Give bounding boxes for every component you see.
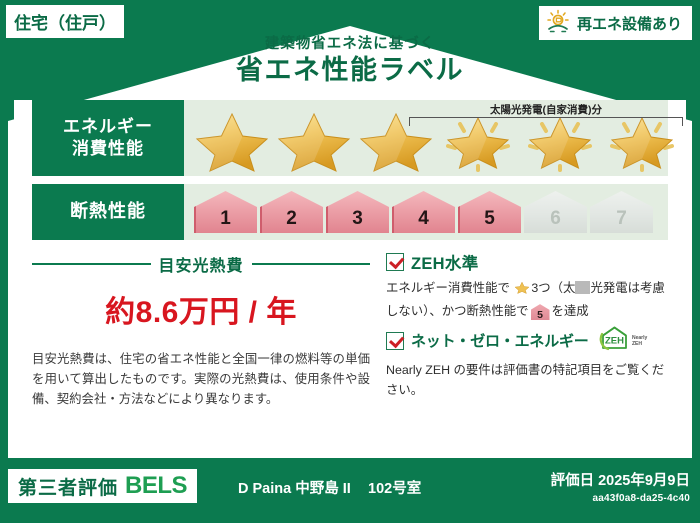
- label-lower-section: 目安光熱費 約8.6万円 / 年 目安光熱費は、住宅の省エネ性能と全国一律の燃料…: [32, 250, 668, 446]
- utility-cost-heading-text: 目安光熱費: [159, 252, 244, 276]
- heading-rule-right: [252, 263, 371, 265]
- net-zero-energy-head: ネット・ゼロ・エネルギー ZEH Nearly ZEH: [386, 325, 668, 356]
- insulation-level-6: 6: [524, 191, 587, 233]
- utility-cost-heading: 目安光熱費: [32, 252, 370, 276]
- zeh-desc-part2: 3つ（太: [531, 281, 575, 295]
- insulation-level-2: 2: [260, 191, 323, 233]
- solar-range-bracket: [409, 117, 683, 126]
- renewable-badge-label: 再エネ設備あり: [577, 13, 682, 34]
- insulation-level-1-number: 1: [220, 208, 231, 230]
- net-zero-energy-title: ネット・ゼロ・エネルギー: [411, 330, 589, 351]
- heading-rule-left: [32, 263, 151, 265]
- insulation-level-4: 4: [392, 191, 455, 233]
- energy-performance-row: エネルギー 消費性能 太陽光発電(自家消費)分: [32, 100, 668, 176]
- solar-generation-note: 太陽光発電(自家消費)分: [406, 102, 686, 117]
- room-number: 102号室: [368, 477, 421, 498]
- energy-label-line2: 消費性能: [72, 138, 144, 160]
- insulation-level-7: 7: [590, 191, 653, 233]
- zeh-standard-head: ZEH水準: [386, 250, 668, 274]
- insulation-level-2-number: 2: [286, 208, 297, 230]
- insulation-level-6-number: 6: [550, 208, 561, 230]
- zeh-desc-part4: を達成: [552, 304, 589, 318]
- insulation-performance-label: 断熱性能: [32, 184, 184, 240]
- utility-cost-value: 約8.6万円 / 年: [32, 287, 370, 331]
- insulation-performance-row: 断熱性能 1 2 3: [32, 184, 668, 240]
- bels-certification-plate: 第三者評価 BELS: [8, 469, 197, 503]
- evaluation-info: 評価日 2025年9月9日 aa43f0a8-da25-4c40: [551, 469, 690, 504]
- zeh-standard-title: ZEH水準: [411, 250, 479, 274]
- solar-sun-icon: [545, 9, 571, 38]
- category-tag: 住宅（住戸）: [6, 5, 124, 38]
- zeh-nearly-logo-icon: ZEH Nearly ZEH: [599, 325, 657, 356]
- evaluation-date: 評価日 2025年9月9日: [551, 469, 690, 490]
- redacted-character: [575, 281, 590, 294]
- insulation-level-5-number: 5: [484, 208, 495, 230]
- insulation-level-3: 3: [326, 191, 389, 233]
- net-zero-energy-check-item: ネット・ゼロ・エネルギー ZEH Nearly ZEH: [386, 325, 668, 400]
- label-footer: 第三者評価 BELS D Paina 中野島 II 102号室 評価日 2025…: [0, 461, 700, 523]
- energy-performance-label: エネルギー 消費性能: [32, 100, 184, 176]
- label-title-main: 省エネ性能ラベル: [0, 54, 700, 88]
- label-content: エネルギー 消費性能 太陽光発電(自家消費)分: [14, 100, 686, 456]
- net-zero-energy-description: Nearly ZEH の要件は評価書の特記項目をご覧ください。: [386, 360, 668, 400]
- energy-star-2: [274, 110, 354, 172]
- insulation-level-scale: 1 2 3 4 5: [184, 191, 653, 233]
- bels-logo-text: BELS: [125, 472, 187, 500]
- inline-star-icon: [514, 280, 530, 301]
- utility-cost-note: 目安光熱費は、住宅の省エネ性能と全国一律の燃料等の単価を用いて算出したものです。…: [32, 349, 370, 409]
- energy-star-1: [192, 110, 272, 172]
- inline-insulation-house-icon: 5: [531, 304, 550, 320]
- energy-performance-label: 住宅（住戸） 再エネ設備あり 建築物省エネ法に基づく: [0, 0, 700, 523]
- renewable-equipment-badge: 再エネ設備あり: [539, 6, 692, 40]
- insulation-level-3-number: 3: [352, 208, 363, 230]
- insulation-label-text: 断熱性能: [70, 200, 146, 223]
- energy-performance-body: 太陽光発電(自家消費)分: [184, 100, 682, 176]
- energy-label-line1: エネルギー: [63, 116, 153, 138]
- zeh-standard-description: エネルギー消費性能で 3つ（太光発電は考慮しない）、かつ断熱性能で5を達成: [386, 278, 668, 321]
- net-zero-energy-checkbox[interactable]: [386, 332, 404, 350]
- zeh-desc-part1: エネルギー消費性能で: [386, 281, 510, 295]
- svg-text:ZEH: ZEH: [632, 341, 642, 347]
- svg-text:ZEH: ZEH: [605, 336, 624, 347]
- insulation-performance-body: 1 2 3 4 5: [184, 184, 668, 240]
- category-tag-label: 住宅（住戸）: [14, 9, 116, 34]
- utility-cost-column: 目安光熱費 約8.6万円 / 年 目安光熱費は、住宅の省エネ性能と全国一律の燃料…: [32, 250, 376, 446]
- evaluation-id: aa43f0a8-da25-4c40: [551, 493, 690, 504]
- building-name: D Paina 中野島 II: [238, 477, 351, 498]
- label-title-block: 建築物省エネ法に基づく 省エネ性能ラベル: [0, 36, 700, 88]
- insulation-level-5: 5: [458, 191, 521, 233]
- inline-house-number: 5: [537, 309, 543, 321]
- zeh-checks-column: ZEH水準 エネルギー消費性能で 3つ（太光発電は考慮しない）、かつ断熱性能で5…: [376, 250, 668, 446]
- third-party-eval-label: 第三者評価: [18, 473, 118, 500]
- insulation-level-4-number: 4: [418, 208, 429, 230]
- zeh-standard-checkbox[interactable]: [386, 253, 404, 271]
- insulation-level-1: 1: [194, 191, 257, 233]
- zeh-standard-check-item: ZEH水準 エネルギー消費性能で 3つ（太光発電は考慮しない）、かつ断熱性能で5…: [386, 250, 668, 321]
- insulation-level-7-number: 7: [616, 208, 627, 230]
